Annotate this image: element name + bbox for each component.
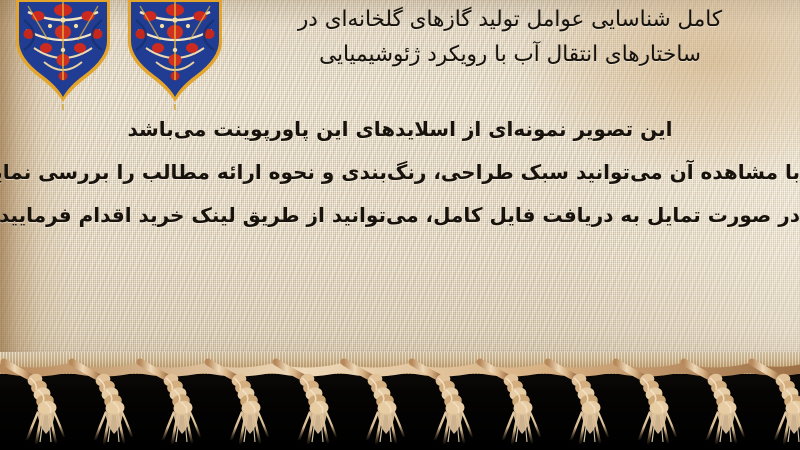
carpet-selvedge-edge <box>0 352 800 374</box>
title-line-1: کامل شناسایی عوامل تولید گازهای گلخانه‌ا… <box>230 2 790 37</box>
body-line-1: این تصویر نمونه‌ای از اسلایدهای این پاور… <box>0 108 800 151</box>
slide-title: کامل شناسایی عوامل تولید گازهای گلخانه‌ا… <box>230 2 790 72</box>
slide-body-text: این تصویر نمونه‌ای از اسلایدهای این پاور… <box>0 108 800 237</box>
slide-canvas: کامل شناسایی عوامل تولید گازهای گلخانه‌ا… <box>0 0 800 450</box>
title-line-2: ساختارهای انتقال آب با رویکرد ژئوشیمیایی <box>230 37 790 72</box>
body-line-3: در صورت تمایل به دریافت فایل کامل، می‌تو… <box>0 194 800 237</box>
black-ground-band <box>0 368 800 450</box>
body-line-2: با مشاهده آن می‌توانید سبک طراحی، رنگ‌بن… <box>0 151 800 194</box>
